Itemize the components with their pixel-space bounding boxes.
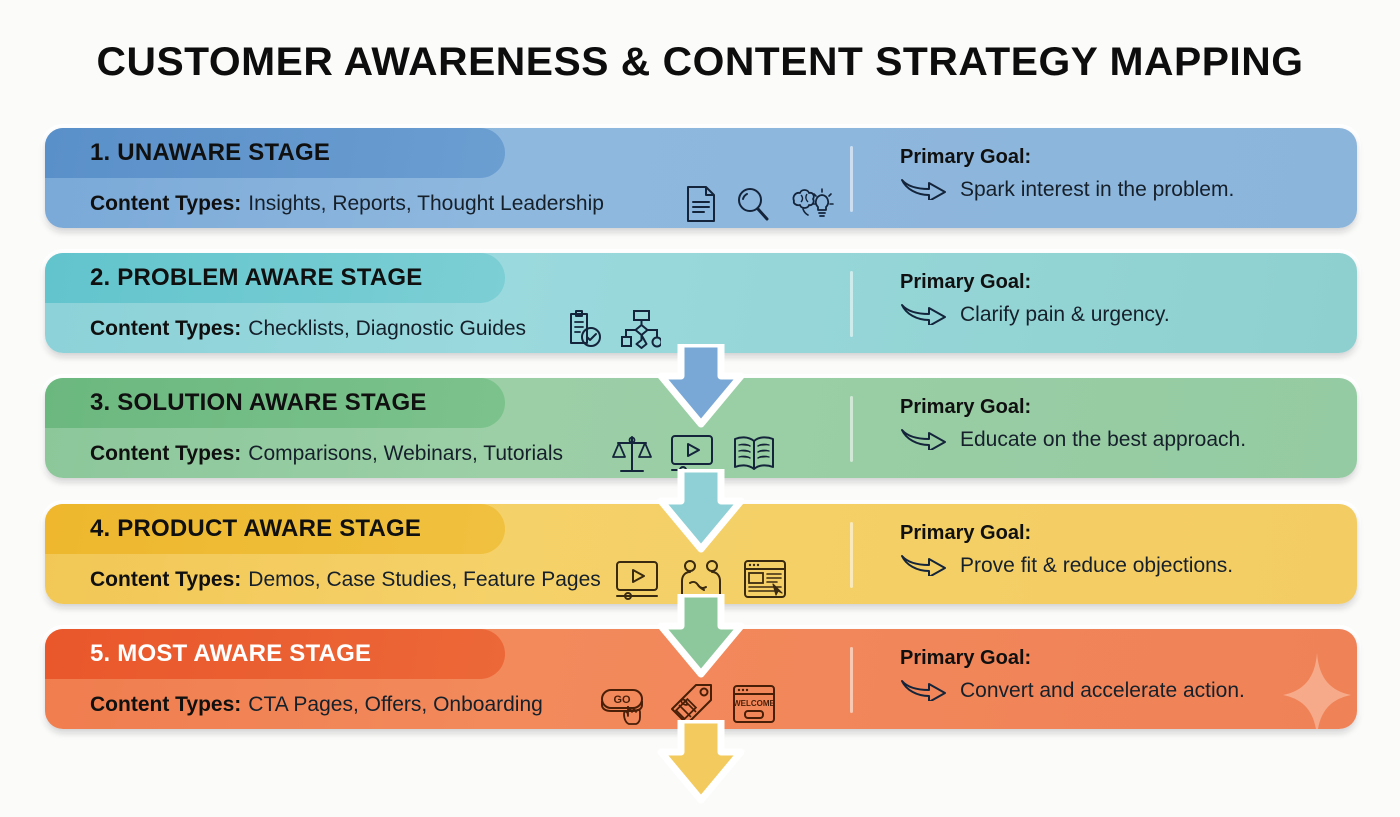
- content-types-label-2: Content Types:: [90, 317, 241, 341]
- row-divider-1: [850, 146, 853, 212]
- go-button-cursor-icon: GO: [600, 684, 652, 726]
- row-divider-5: [850, 647, 853, 713]
- stage-header-pill-4: 4. PRODUCT AWARE STAGE: [45, 504, 505, 554]
- connector-arrow-1: [655, 344, 747, 436]
- goal-text-3: Educate on the best approach.: [960, 428, 1246, 452]
- connector-arrow-3: [655, 594, 747, 686]
- icon-strip-2: [565, 307, 661, 351]
- content-types-label-5: Content Types:: [90, 693, 241, 717]
- goal-block-5: Primary Goal: Convert and accelerate act…: [900, 645, 1340, 706]
- flowchart-icon: [621, 309, 661, 349]
- goal-text-2: Clarify pain & urgency.: [960, 303, 1170, 327]
- goal-arrow-icon-1: [900, 174, 948, 205]
- open-book-icon: [732, 434, 776, 474]
- content-types-value-4: Demos, Case Studies, Feature Pages: [248, 568, 601, 592]
- goal-label-4: Primary Goal:: [900, 520, 1340, 547]
- goal-arrow-icon-4: [900, 550, 948, 581]
- stage-row-problem-aware[interactable]: 2. PROBLEM AWARE STAGE Content Types: Ch…: [45, 253, 1357, 353]
- svg-text:WELCOME: WELCOME: [733, 699, 775, 708]
- content-types-value-1: Insights, Reports, Thought Leadership: [248, 192, 604, 216]
- brain-lightbulb-icon: [789, 185, 835, 223]
- magnifying-glass-icon: [735, 185, 771, 223]
- video-player-icon: [615, 559, 659, 601]
- goal-text-1: Spark interest in the problem.: [960, 178, 1234, 202]
- stage-title-1: 1. UNAWARE STAGE: [90, 139, 330, 167]
- goal-arrow-icon-2: [900, 299, 948, 330]
- stage-header-pill-5: 5. MOST AWARE STAGE: [45, 629, 505, 679]
- goal-block-1: Primary Goal: Spark interest in the prob…: [900, 144, 1340, 205]
- icon-strip-1: [685, 182, 835, 226]
- goal-arrow-icon-3: [900, 424, 948, 455]
- content-types-line-3: Content Types: Comparisons, Webinars, Tu…: [90, 433, 563, 475]
- content-types-line-1: Content Types: Insights, Reports, Though…: [90, 183, 604, 225]
- row-divider-2: [850, 271, 853, 337]
- content-types-value-5: CTA Pages, Offers, Onboarding: [248, 693, 543, 717]
- goal-block-2: Primary Goal: Clarify pain & urgency.: [900, 269, 1340, 330]
- stage-header-pill-2: 2. PROBLEM AWARE STAGE: [45, 253, 505, 303]
- goal-block-4: Primary Goal: Prove fit & reduce objecti…: [900, 520, 1340, 581]
- stage-row-unaware[interactable]: 1. UNAWARE STAGE Content Types: Insights…: [45, 128, 1357, 228]
- stage-title-3: 3. SOLUTION AWARE STAGE: [90, 389, 427, 417]
- sparkle-decoration-icon: [1277, 653, 1351, 729]
- webpage-cursor-icon: [743, 559, 787, 601]
- connector-arrow-4: [655, 720, 747, 812]
- row-divider-4: [850, 522, 853, 588]
- content-types-value-2: Checklists, Diagnostic Guides: [248, 317, 526, 341]
- stage-board: 1. UNAWARE STAGE Content Types: Insights…: [0, 128, 1400, 748]
- goal-text-4: Prove fit & reduce objections.: [960, 554, 1233, 578]
- clipboard-check-icon: [565, 309, 603, 349]
- stage-header-pill-1: 1. UNAWARE STAGE: [45, 128, 505, 178]
- content-types-line-4: Content Types: Demos, Case Studies, Feat…: [90, 559, 601, 601]
- goal-label-2: Primary Goal:: [900, 269, 1340, 296]
- content-types-line-5: Content Types: CTA Pages, Offers, Onboar…: [90, 684, 543, 726]
- goal-label-1: Primary Goal:: [900, 144, 1340, 171]
- content-types-value-3: Comparisons, Webinars, Tutorials: [248, 442, 563, 466]
- scales-icon: [612, 433, 652, 475]
- content-types-line-2: Content Types: Checklists, Diagnostic Gu…: [90, 308, 526, 350]
- row-divider-3: [850, 396, 853, 462]
- goal-block-3: Primary Goal: Educate on the best approa…: [900, 394, 1340, 455]
- goal-label-5: Primary Goal:: [900, 645, 1340, 672]
- stage-title-2: 2. PROBLEM AWARE STAGE: [90, 264, 422, 292]
- svg-text:GO: GO: [613, 694, 631, 706]
- goal-arrow-icon-5: [900, 675, 948, 706]
- page-title: CUSTOMER AWARENESS & CONTENT STRATEGY MA…: [0, 40, 1400, 85]
- stage-header-pill-3: 3. SOLUTION AWARE STAGE: [45, 378, 505, 428]
- goal-text-5: Convert and accelerate action.: [960, 679, 1245, 703]
- stage-title-4: 4. PRODUCT AWARE STAGE: [90, 515, 421, 543]
- stage-title-5: 5. MOST AWARE STAGE: [90, 640, 371, 668]
- goal-label-3: Primary Goal:: [900, 394, 1340, 421]
- content-types-label-3: Content Types:: [90, 442, 241, 466]
- document-icon: [685, 185, 717, 223]
- connector-arrow-2: [655, 469, 747, 561]
- content-types-label-1: Content Types:: [90, 192, 241, 216]
- content-types-label-4: Content Types:: [90, 568, 241, 592]
